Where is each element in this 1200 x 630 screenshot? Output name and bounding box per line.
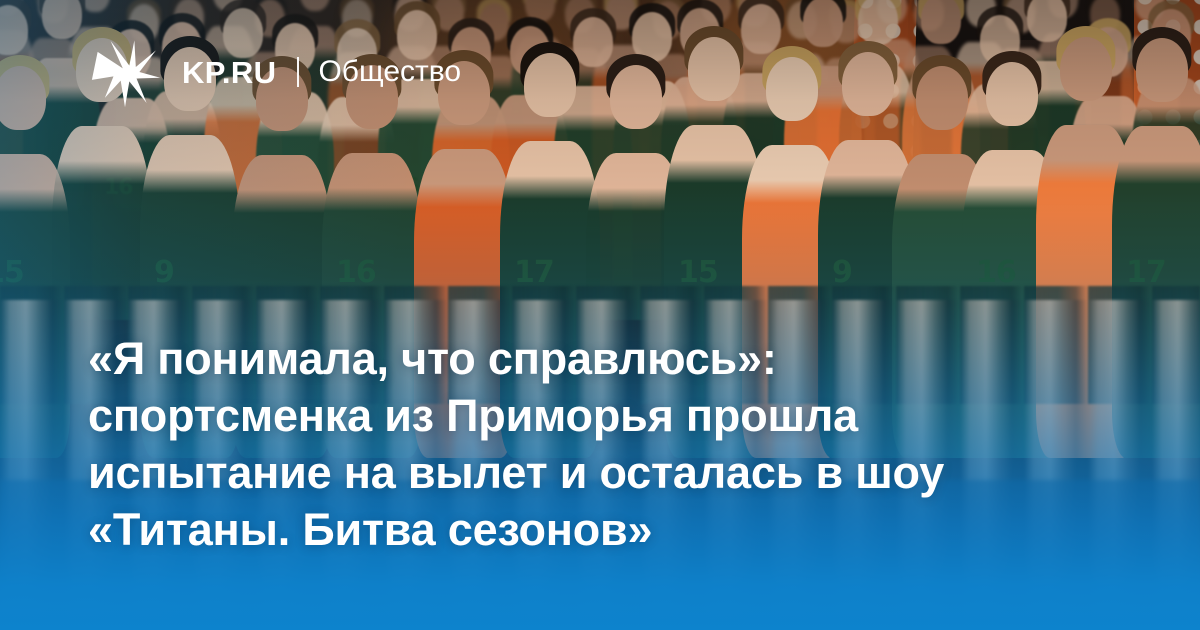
header-bar: KP.RU Общество xyxy=(88,36,461,108)
athlete-head xyxy=(1060,37,1112,101)
headline: «Я понимала, что справлюсь»: спортсменка… xyxy=(88,330,1088,558)
athlete-head xyxy=(524,53,576,117)
athlete-jersey-number: 17 xyxy=(514,255,554,290)
athlete-head xyxy=(766,57,818,121)
athlete-head xyxy=(986,62,1038,126)
headline-line-4: «Титаны. Битва сезонов» xyxy=(88,501,1088,558)
athlete-jersey-number: 15 xyxy=(678,255,718,290)
athlete-head xyxy=(842,52,894,116)
kp-swallow-bird-logo-icon[interactable] xyxy=(88,36,162,108)
athlete-jersey-number: 15 xyxy=(0,255,24,290)
header-separator xyxy=(297,57,299,87)
athlete-jersey-number: 16 xyxy=(336,255,376,290)
athlete-jersey-number: 9 xyxy=(832,255,852,290)
headline-line-3: испытание на вылет и осталась в шоу xyxy=(88,444,1088,501)
athlete-jersey-number: 17 xyxy=(1126,255,1166,290)
athlete-jersey-number: 9 xyxy=(154,255,174,290)
headline-line-1: «Я понимала, что справлюсь»: xyxy=(88,330,1088,387)
athlete-head xyxy=(1136,38,1188,102)
headline-line-2: спортсменка из Приморья прошла xyxy=(88,387,1088,444)
athlete-head xyxy=(916,66,968,130)
athlete-head xyxy=(610,65,662,129)
athlete-head xyxy=(688,37,740,101)
rubric-label[interactable]: Общество xyxy=(318,57,461,87)
athlete-head xyxy=(0,66,46,130)
brand-label[interactable]: KP.RU xyxy=(182,57,276,88)
social-share-card: 161616917 15916171591617 KP.RU Общество … xyxy=(0,0,1200,630)
athlete-jersey-number: 16 xyxy=(976,255,1016,290)
